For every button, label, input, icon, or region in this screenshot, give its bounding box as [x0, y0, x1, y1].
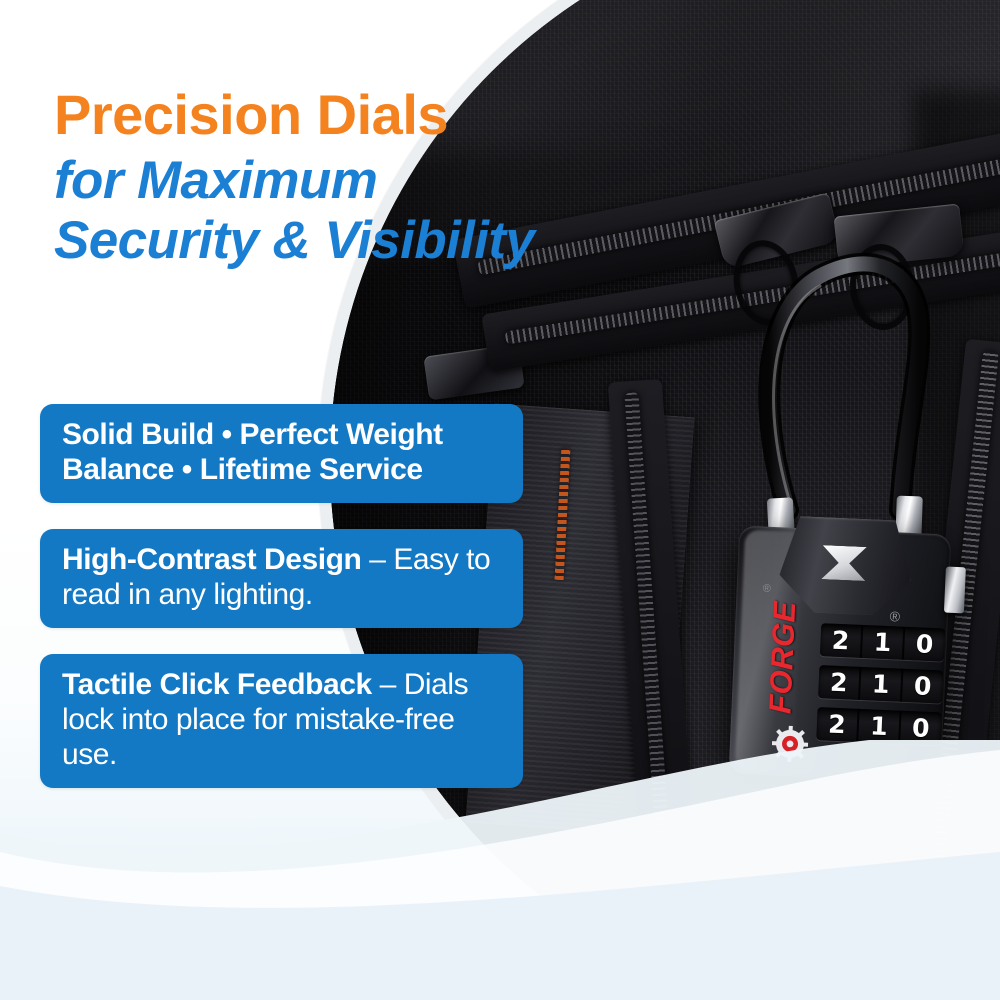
feature-list: Solid Build • Perfect Weight Balance • L…	[40, 404, 523, 814]
dial-digit[interactable]: 1	[862, 625, 905, 660]
headline-line-3: Security & Visibility	[54, 211, 614, 271]
dial-digit[interactable]: 2	[818, 665, 861, 700]
dial-digit[interactable]: 1	[860, 667, 903, 702]
dial-digit[interactable]: 0	[904, 627, 945, 662]
feature-box-high-contrast: High-Contrast Design – Easy to read in a…	[40, 529, 523, 628]
dial-row[interactable]: 2 1 0	[816, 707, 941, 745]
dial-digit[interactable]: 2	[820, 623, 863, 658]
infographic-canvas: ® ® FORGE 2 1 0 2 1 0	[0, 0, 1000, 1000]
feature-text: Tactile Click Feedback – Dials lock into…	[62, 667, 501, 773]
lock-release-button[interactable]	[944, 567, 966, 614]
dial-row[interactable]: 2 1 0	[820, 623, 945, 661]
brand-name: FORGE	[762, 600, 802, 714]
combination-dials[interactable]: 2 1 0 2 1 0 2 1 0	[816, 623, 945, 754]
feature-box-build-quality: Solid Build • Perfect Weight Balance • L…	[40, 404, 523, 503]
forge-gear-icon	[769, 723, 811, 765]
feature-heading: Solid Build • Perfect Weight Balance • L…	[62, 418, 443, 486]
feature-box-tactile-click: Tactile Click Feedback – Dials lock into…	[40, 654, 523, 788]
feature-heading: Tactile Click Feedback	[62, 668, 372, 701]
headline-line-1: Precision Dials	[54, 86, 614, 143]
dial-digit[interactable]: 0	[902, 669, 943, 704]
headline-line-2: for Maximum	[54, 151, 614, 211]
forge-brand-mark: FORGE	[762, 582, 805, 733]
dial-digit[interactable]: 1	[858, 709, 901, 744]
headline: Precision Dials for Maximum Security & V…	[54, 86, 614, 271]
dial-digit[interactable]: 0	[900, 711, 941, 746]
feature-heading: High-Contrast Design	[62, 543, 361, 576]
registered-icon-right: ®	[889, 608, 900, 624]
dial-digit[interactable]: 2	[816, 707, 859, 742]
feature-text: High-Contrast Design – Easy to read in a…	[62, 542, 501, 613]
feature-text: Solid Build • Perfect Weight Balance • L…	[62, 417, 501, 488]
tsa-combination-lock: ® ® FORGE 2 1 0 2 1 0	[729, 525, 952, 782]
dial-row[interactable]: 2 1 0	[818, 665, 943, 703]
